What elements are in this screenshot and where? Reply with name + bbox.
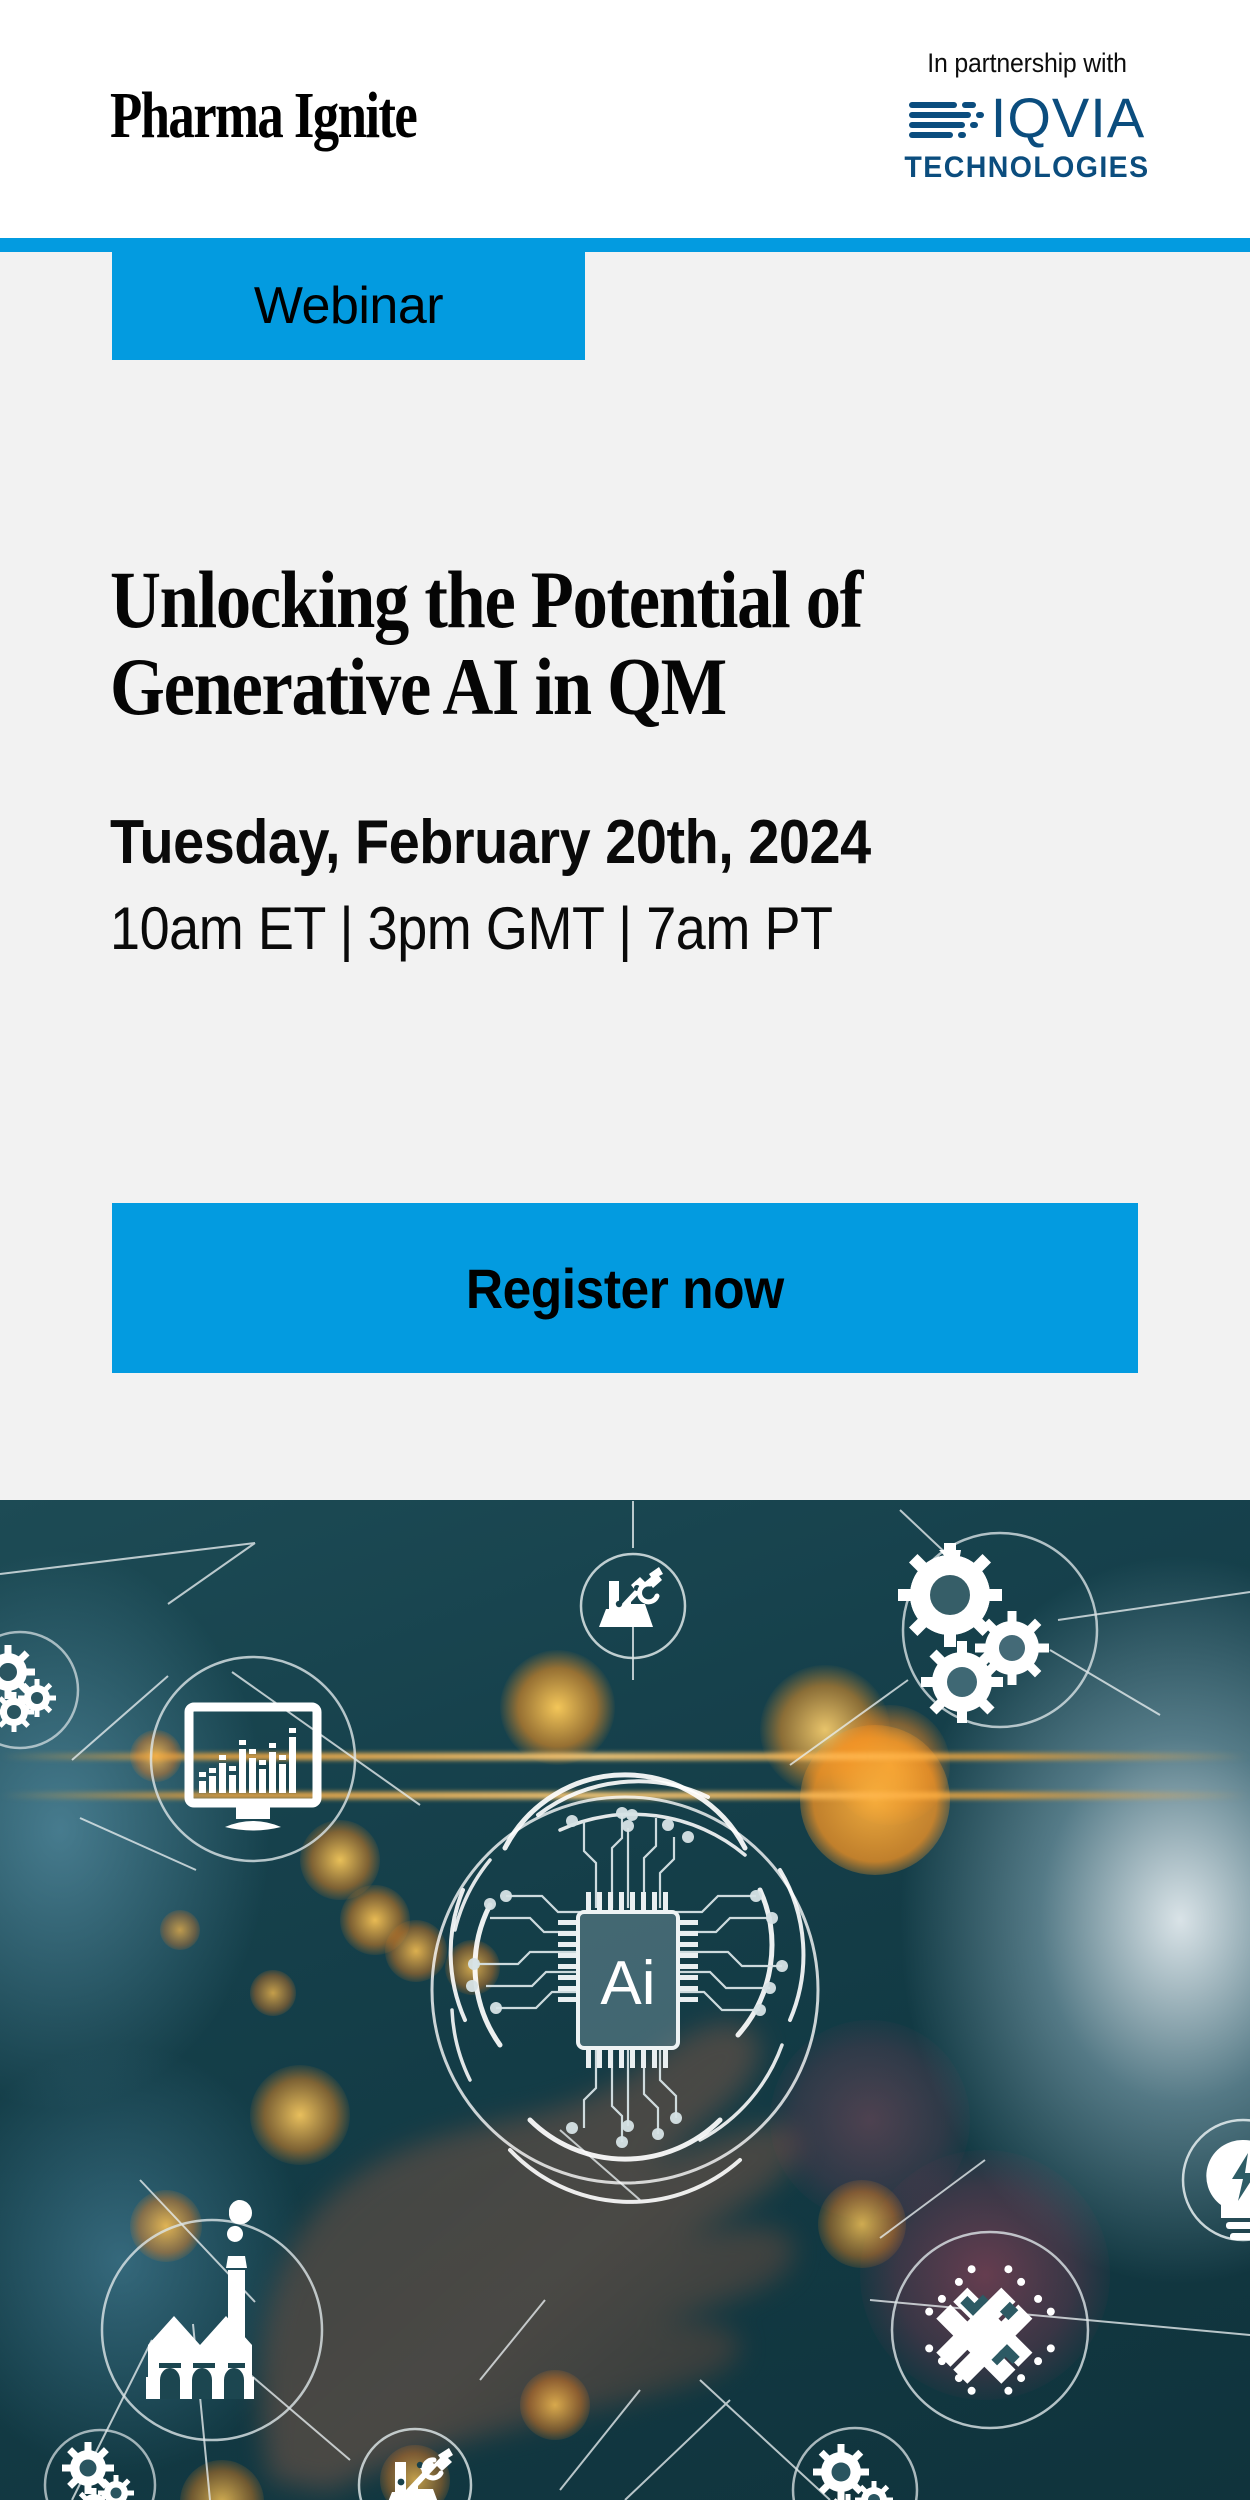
webinar-badge: Webinar — [112, 252, 585, 360]
iqvia-wordmark: IQVIA — [991, 90, 1145, 146]
header-accent-rule — [0, 238, 1250, 252]
page-header: Pharma Ignite In partnership with IQVIA … — [0, 0, 1250, 238]
pharma-ignite-wordmark: Pharma Ignite — [110, 78, 416, 154]
event-date: Tuesday, February 20th, 2024 — [110, 807, 1100, 878]
register-now-label: Register now — [466, 1256, 784, 1321]
page-title: Unlocking the Potential of Generative AI… — [110, 557, 1013, 731]
iqvia-technologies-label: TECHNOLOGIES — [870, 151, 1184, 185]
partner-logo-block: In partnership with IQVIA TECHNOLOGIES — [862, 48, 1192, 185]
register-now-button[interactable]: Register now — [112, 1203, 1138, 1373]
gears-small-icon — [793, 2428, 917, 2500]
iqvia-logo: IQVIA — [862, 89, 1192, 147]
partnership-label: In partnership with — [875, 48, 1179, 79]
hero-image: Ai — [0, 1500, 1250, 2500]
hero-lower-nodes — [0, 1500, 1250, 2500]
iqvia-bars-icon — [909, 99, 984, 138]
webinar-promo-page: Pharma Ignite In partnership with IQVIA … — [0, 0, 1250, 2500]
promo-body: Webinar Unlocking the Potential of Gener… — [0, 252, 1250, 1500]
robot-arm-icon — [359, 2429, 471, 2500]
event-time: 10am ET | 3pm GMT | 7am PT — [110, 894, 1100, 963]
webinar-badge-label: Webinar — [254, 276, 443, 336]
gears-small-icon — [45, 2430, 155, 2500]
